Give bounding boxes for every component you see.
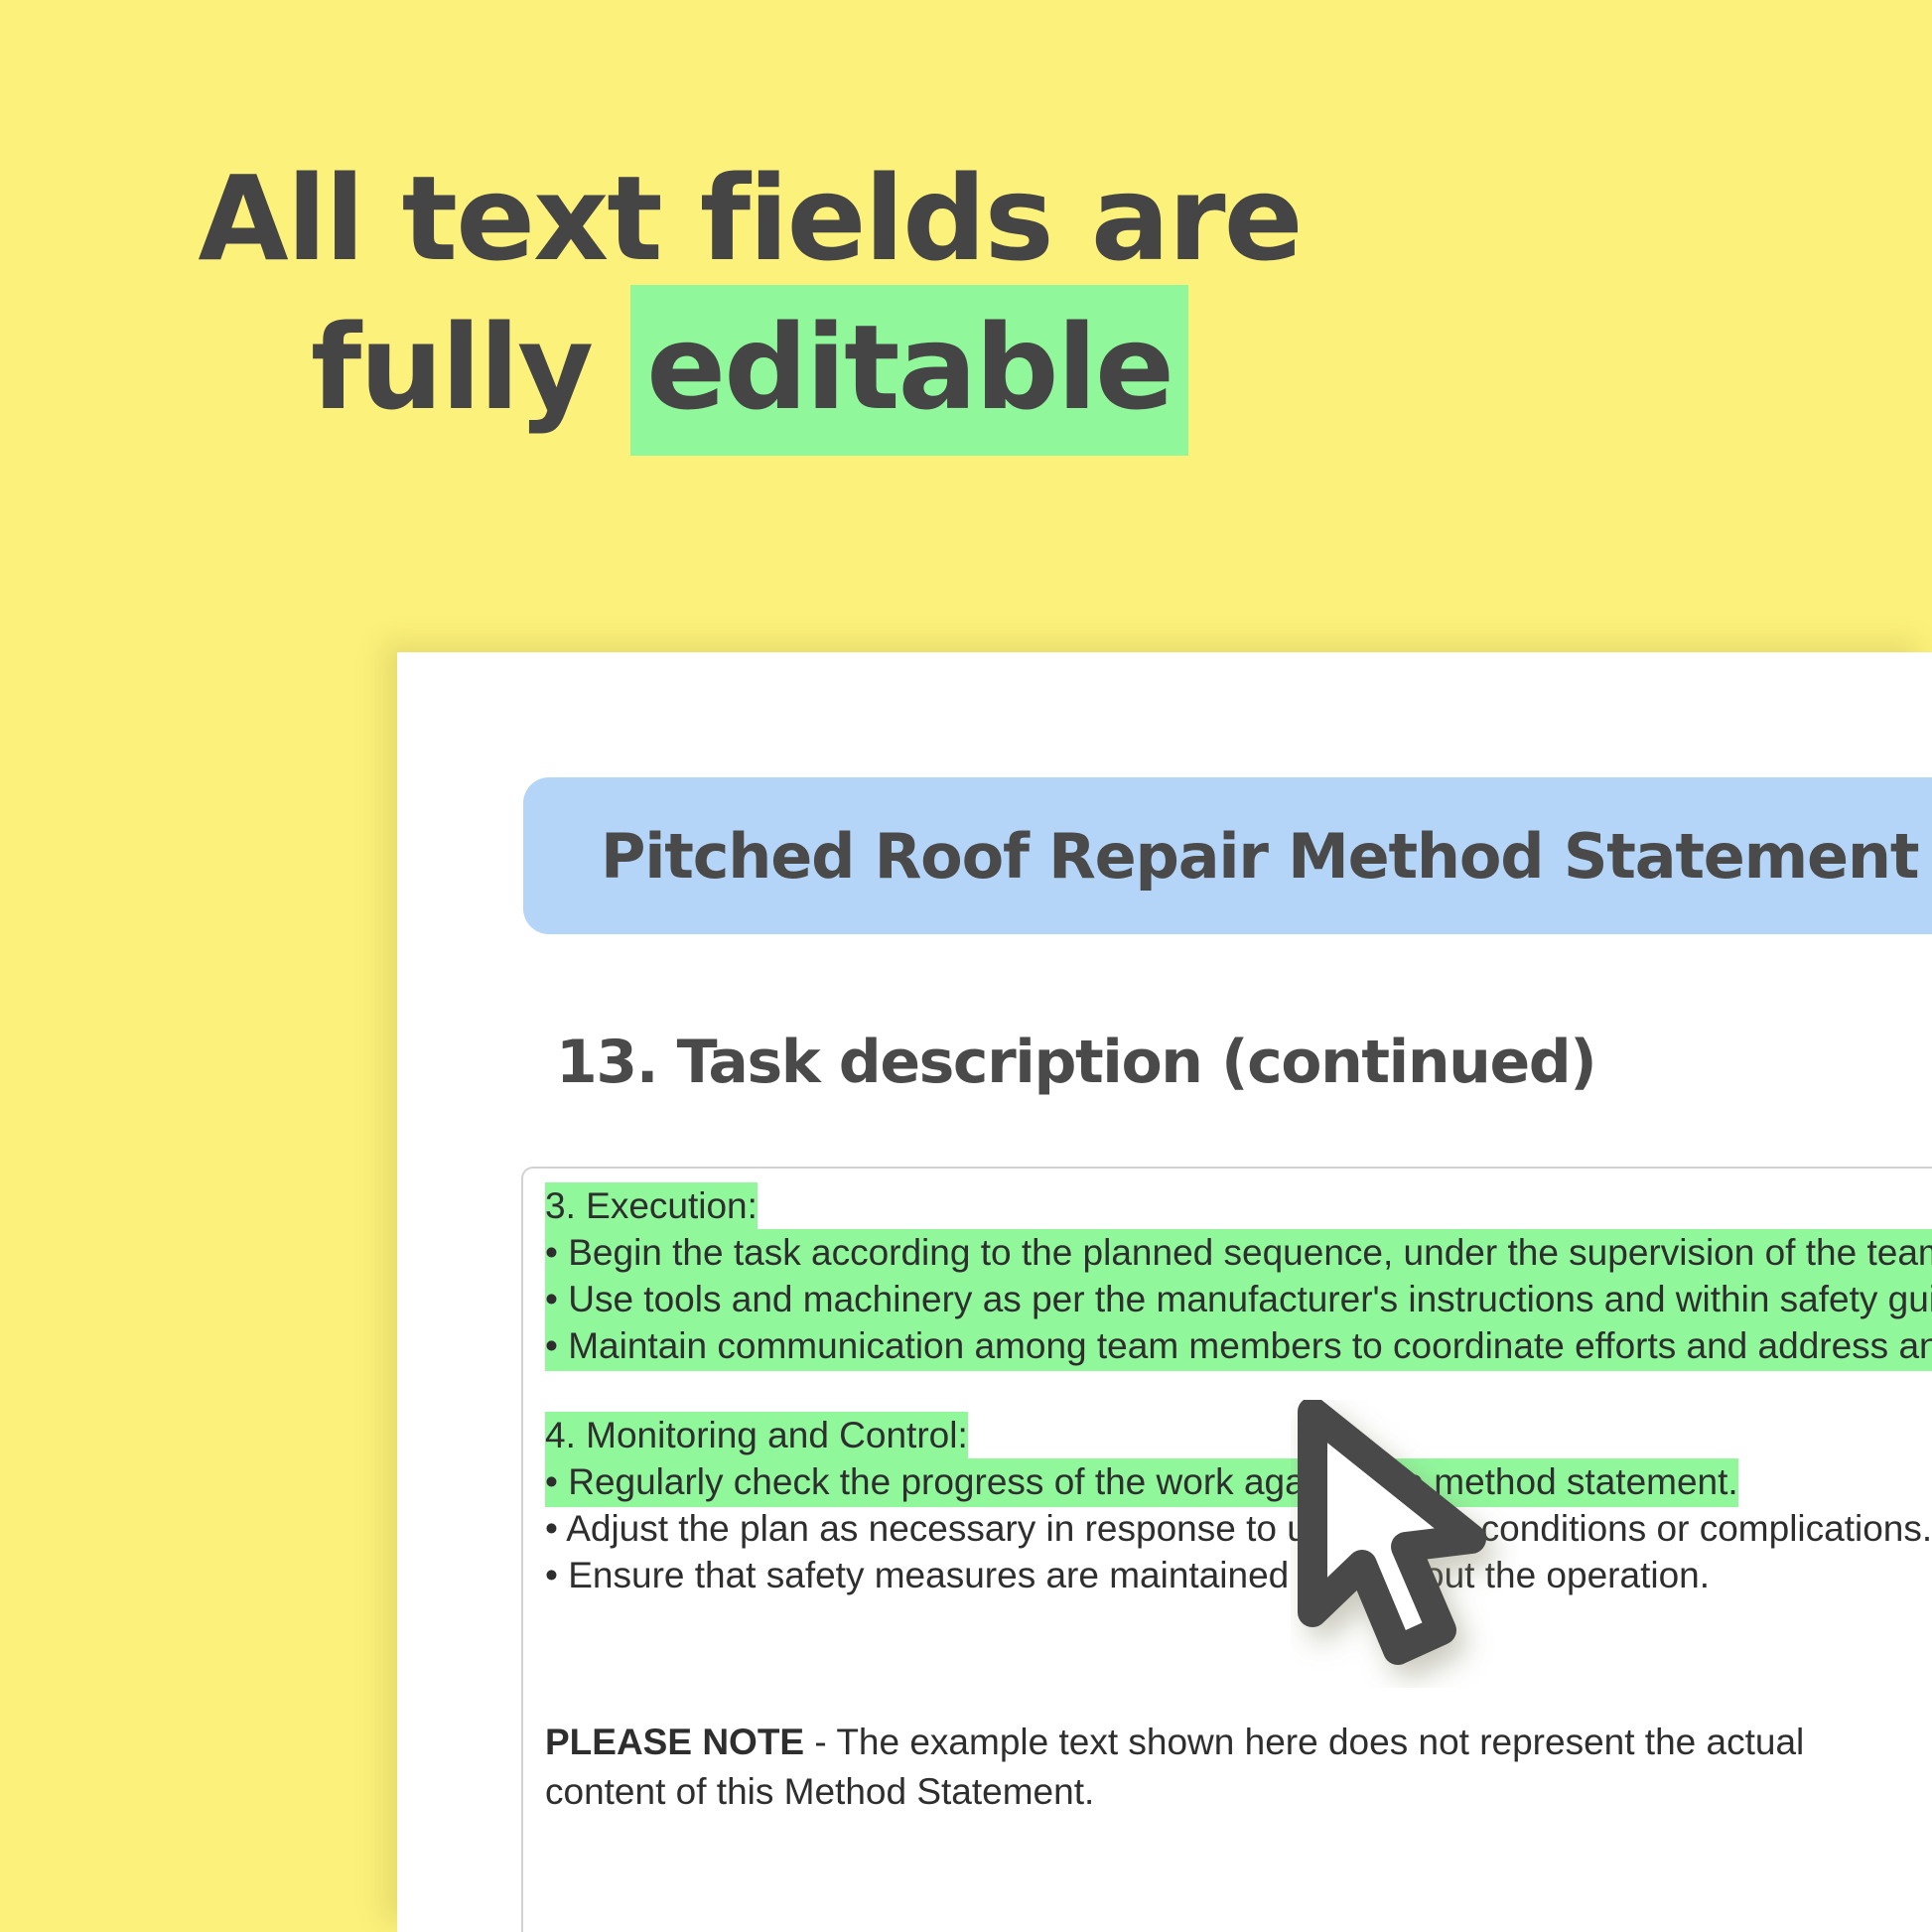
document-title-text: Pitched Roof Repair Method Statement [523,820,1918,893]
task-line: • Maintain communication among team memb… [545,1322,1932,1369]
task-blank-line [545,1369,1932,1412]
task-blank-line [545,1598,1932,1718]
task-line: • Use tools and machinery as per the man… [545,1276,1932,1322]
please-note-paragraph: PLEASE NOTE - The example text shown her… [545,1718,1836,1817]
promo-headline-plain-text: fully [311,299,630,436]
document-card: Pitched Roof Repair Method Statement 13.… [397,652,1932,1932]
please-note-label: PLEASE NOTE [545,1722,804,1762]
section-heading: 13. Task description (continued) [556,1028,1595,1097]
promo-headline-highlighted-word: editable [630,285,1188,456]
task-line-text: • Maintain communication among team memb… [545,1322,1932,1371]
task-line-text: • Ensure that safety measures are mainta… [545,1555,1710,1595]
task-line: • Begin the task according to the planne… [545,1229,1932,1276]
task-line-text: • Adjust the plan as necessary in respon… [545,1508,1932,1549]
promo-headline-line-1: All text fields are [0,149,1499,288]
promo-headline-line-2: fully editable [0,298,1499,437]
task-line: • Ensure that safety measures are mainta… [545,1552,1932,1598]
task-description-textfield[interactable]: 3. Execution: • Begin the task according… [521,1167,1932,1932]
promo-headline: All text fields are fully editable [0,149,1499,437]
task-line-text: 4. Monitoring and Control: [545,1412,968,1460]
task-line-text: 3. Execution: [545,1182,758,1231]
task-line-text: • Begin the task according to the planne… [545,1229,1932,1278]
task-line-text: • Regularly check the progress of the wo… [545,1458,1738,1507]
task-line: 4. Monitoring and Control: [545,1412,1932,1458]
screenshot-root: All text fields are fully editable Pitch… [0,0,1932,1932]
task-description-content: 3. Execution: • Begin the task according… [545,1182,1932,1817]
task-line-text: • Use tools and machinery as per the man… [545,1276,1932,1324]
document-title-banner[interactable]: Pitched Roof Repair Method Statement [523,777,1932,934]
task-line: • Regularly check the progress of the wo… [545,1458,1932,1505]
task-line: • Adjust the plan as necessary in respon… [545,1505,1932,1552]
task-line: 3. Execution: [545,1182,1932,1229]
